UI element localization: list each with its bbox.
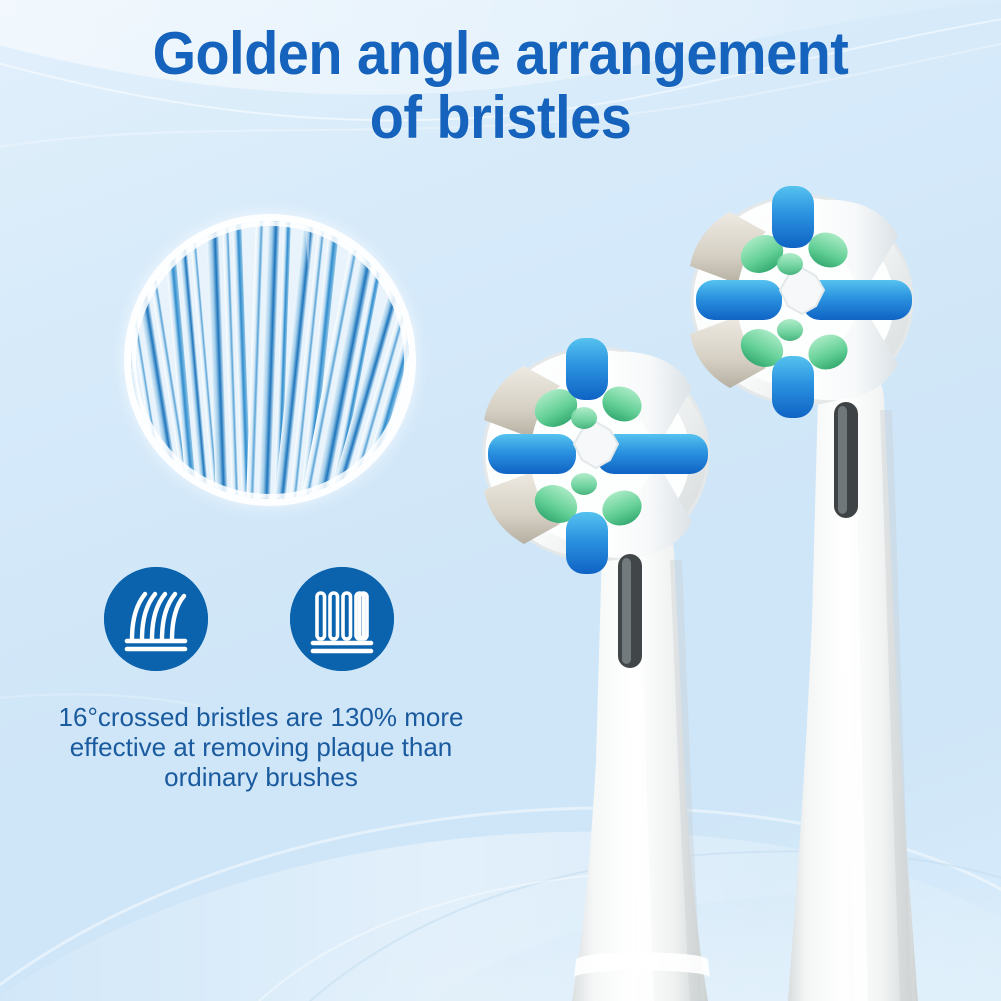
bristle-closeup-photo	[131, 221, 409, 499]
page-title: Golden angle arrangement of bristles	[35, 22, 966, 150]
feature-icon-row	[104, 567, 404, 673]
angled-bristles-icon	[104, 567, 208, 671]
page-title-line-2: of bristles	[35, 86, 966, 150]
product-feature-poster: Golden angle arrangement of bristles	[0, 0, 1001, 1001]
toothbrush-head-front	[420, 310, 820, 1001]
straight-bristles-icon	[290, 567, 394, 671]
page-title-line-1: Golden angle arrangement	[35, 22, 966, 86]
